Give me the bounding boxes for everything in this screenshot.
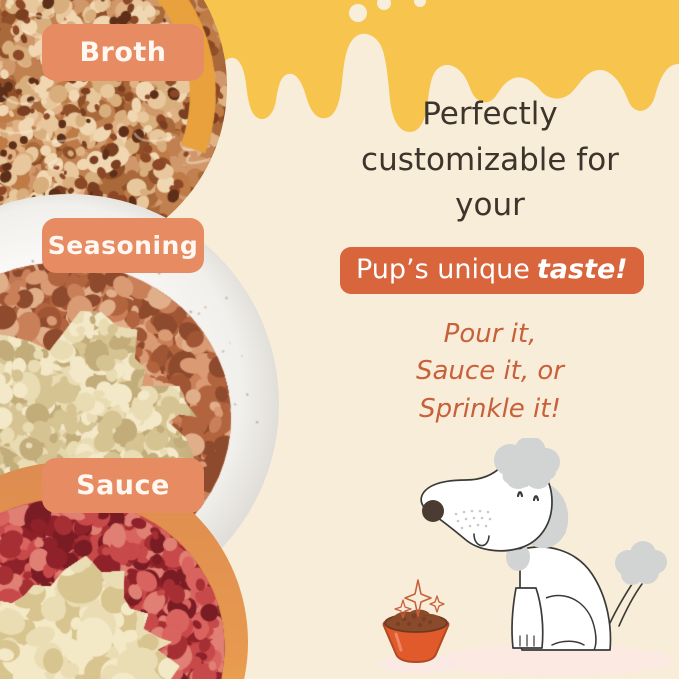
sparkle-small-right-icon [430,596,444,612]
headline-line-1: Perfectly [340,92,640,138]
tagline-line-2: Sauce it, or [340,353,640,391]
label-pill-sauce-text: Sauce [76,470,170,501]
tagline: Pour it, Sauce it, or Sprinkle it! [340,316,640,429]
highlight-pill: Pup’s unique taste! [340,247,644,294]
highlight-pill-prefix: Pup’s unique [356,254,530,285]
headline-line-2: customizable for [340,138,640,184]
food-bowl-icon [384,580,449,662]
dog-tail [610,541,667,626]
dog-nose-icon [422,500,444,522]
label-pill-sauce: Sauce [42,458,204,513]
headline-line-3: your [340,183,640,229]
tagline-line-1: Pour it, [340,316,640,354]
tail-puff-icon [615,541,667,585]
label-pill-seasoning: Seasoning [42,218,204,273]
highlight-pill-emphasis: taste! [537,254,628,285]
copy-column: Perfectly customizable for your Pup’s un… [340,92,640,429]
label-pill-seasoning-text: Seasoning [48,231,198,260]
label-pill-broth: Broth [42,24,204,81]
label-pill-broth-text: Broth [79,37,166,68]
promo-poster: Broth Seasoning Sauce Perfectly customiz… [0,0,679,679]
tagline-line-3: Sprinkle it! [340,391,640,429]
headline: Perfectly customizable for your [340,92,640,229]
dog-illustration [370,438,679,679]
